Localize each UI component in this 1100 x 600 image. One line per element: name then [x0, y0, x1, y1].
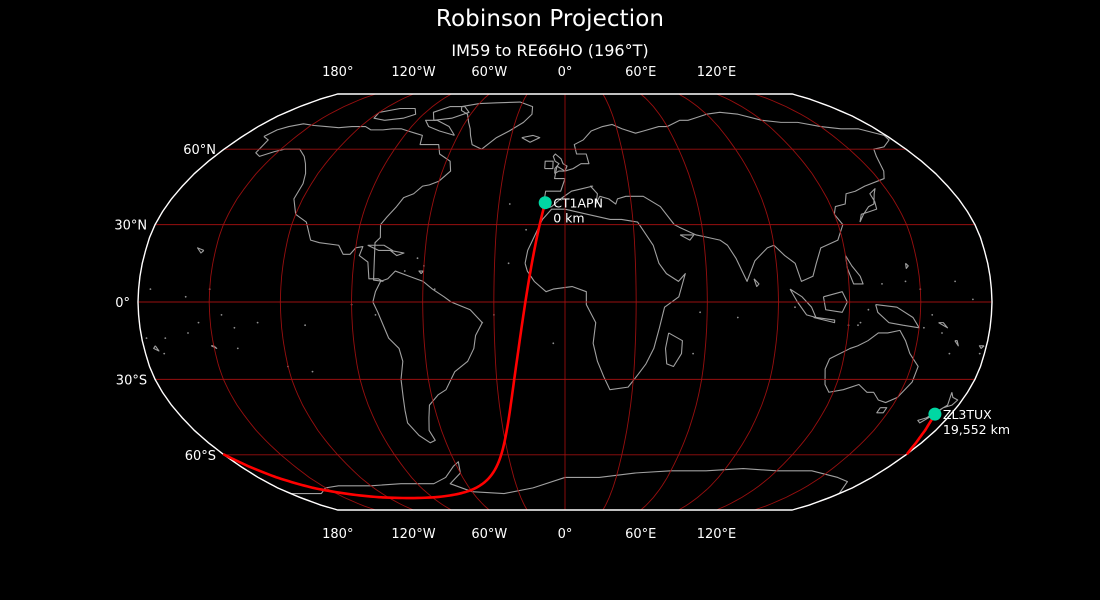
lon-tick-top: 120°E [697, 65, 737, 80]
map-marker[interactable]: ZL3TUX19,552 km [928, 407, 1010, 437]
lon-tick-top: 60°W [471, 65, 507, 80]
lon-tick-top: 180° [322, 65, 353, 80]
lon-tick-top: 120°W [391, 65, 435, 80]
marker-callsign: CT1APN [553, 196, 603, 211]
lon-tick-bottom: 120°E [697, 527, 737, 542]
great-circle-path [224, 203, 935, 498]
graticule-layer [138, 94, 992, 510]
marker-distance: 19,552 km [943, 422, 1010, 437]
map-marker[interactable]: CT1APN0 km [539, 196, 603, 226]
robinson-map[interactable]: CT1APN0 kmZL3TUX19,552 km 180°180°120°W1… [0, 0, 1100, 600]
lat-tick-left: 30°S [116, 373, 147, 388]
lat-tick-left: 60°S [185, 449, 216, 464]
figure-canvas: Robinson Projection IM59 to RE66HO (196°… [0, 0, 1100, 600]
marker-dot[interactable] [539, 196, 552, 209]
markers-layer[interactable]: CT1APN0 kmZL3TUX19,552 km [539, 196, 1010, 437]
axis-tick-labels: 180°180°120°W120°W60°W60°W0°0°60°E60°E12… [114, 65, 736, 542]
lat-tick-left: 0° [115, 296, 130, 311]
lon-tick-bottom: 180° [322, 527, 353, 542]
lon-tick-bottom: 0° [558, 527, 573, 542]
lat-tick-left: 60°N [183, 143, 216, 158]
marker-callsign: ZL3TUX [943, 407, 992, 422]
lat-tick-left: 30°N [114, 219, 147, 234]
marker-distance: 0 km [553, 211, 584, 226]
lon-tick-bottom: 120°W [391, 527, 435, 542]
marker-dot[interactable] [928, 408, 941, 421]
lon-tick-top: 60°E [625, 65, 656, 80]
lon-tick-top: 0° [558, 65, 573, 80]
lon-tick-bottom: 60°W [471, 527, 507, 542]
lon-tick-bottom: 60°E [625, 527, 656, 542]
